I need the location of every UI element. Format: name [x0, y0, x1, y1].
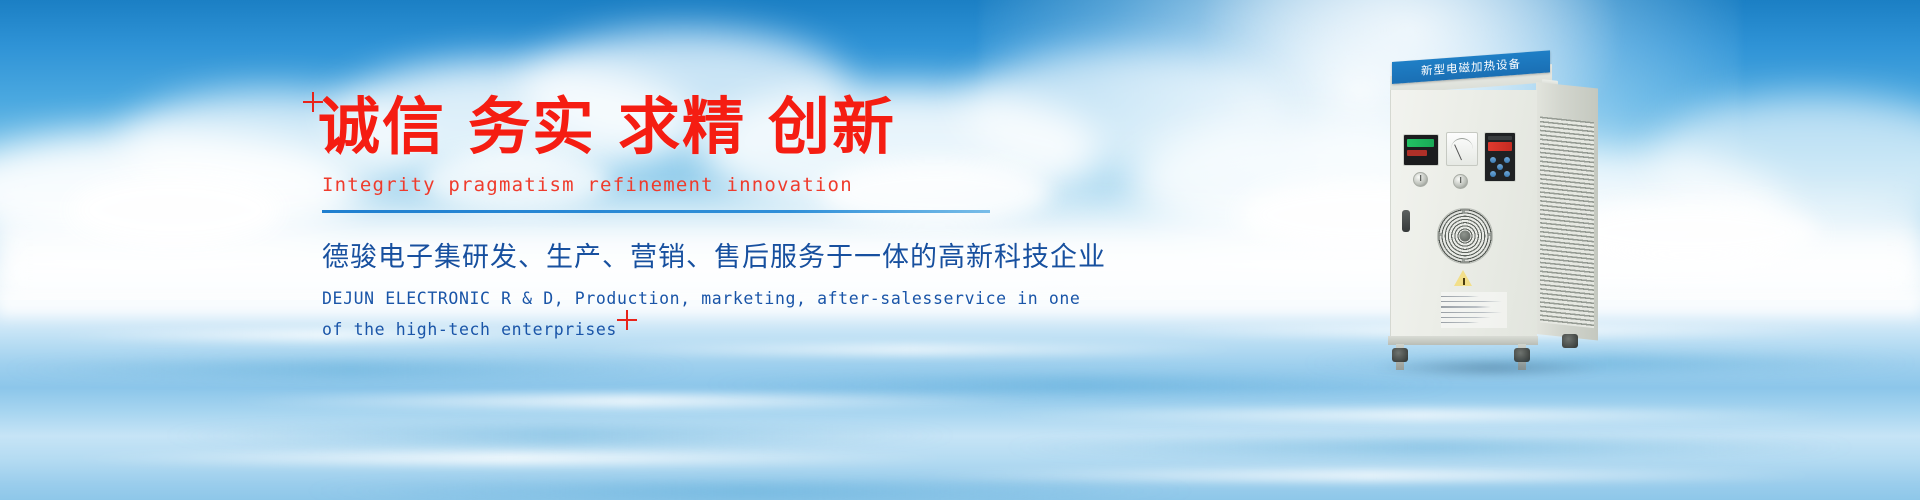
headline-word-2: 务实 [468, 90, 596, 163]
sea-shadow [160, 428, 960, 443]
machine-base [1388, 336, 1538, 345]
cloud-puff [70, 175, 280, 245]
sea-shadow [0, 362, 700, 376]
sea-shadow [700, 378, 1460, 391]
headline-word-1: 诚信 [318, 90, 446, 163]
fan-grille-icon [1437, 208, 1493, 264]
machine-port [1402, 210, 1410, 232]
digital-display-icon [1403, 134, 1439, 166]
hero-banner: 诚信务实求精创新 Integrity pragmatism refinement… [0, 0, 1920, 500]
headline-subtitle-english: Integrity pragmatism refinement innovati… [322, 174, 1078, 196]
description-english-line1: DEJUN ELECTRONIC R & D, Production, mark… [322, 284, 1078, 315]
machine-shadow [1372, 358, 1608, 378]
sea-highlight [60, 452, 960, 464]
sea-highlight [980, 410, 1860, 420]
banner-copy: 诚信务实求精创新 Integrity pragmatism refinement… [318, 96, 1078, 345]
keypad-icon [1484, 132, 1516, 182]
machine-side-panel [1536, 82, 1598, 341]
description-chinese: 德骏电子集研发、生产、营销、售后服务于一体的高新科技企业 [322, 235, 1078, 274]
analog-gauge-icon [1446, 132, 1478, 166]
divider [322, 210, 990, 213]
machine-caster [1562, 334, 1578, 348]
sea-highlight [900, 470, 1840, 481]
machine-vent-grille [1540, 116, 1594, 328]
headline-word-4: 创新 [768, 90, 896, 163]
machine-front-panel [1390, 90, 1537, 338]
warning-mark [1463, 278, 1465, 285]
sea-highlight [220, 395, 1040, 407]
sea-shadow [1000, 440, 1860, 454]
control-knob-icon[interactable] [1453, 174, 1468, 189]
machine-spec-label [1441, 292, 1507, 328]
headline-word-3: 求精 [618, 90, 746, 163]
sea-shadow [300, 484, 1200, 498]
product-image-heating-equipment: 新型电磁加热设备 [1386, 62, 1606, 362]
control-knob-icon[interactable] [1413, 172, 1428, 187]
description-english-line2: of the high-tech enterprises [322, 315, 1078, 346]
sea-highlight [560, 345, 1260, 354]
page-title: 诚信务实求精创新 [318, 96, 1078, 158]
